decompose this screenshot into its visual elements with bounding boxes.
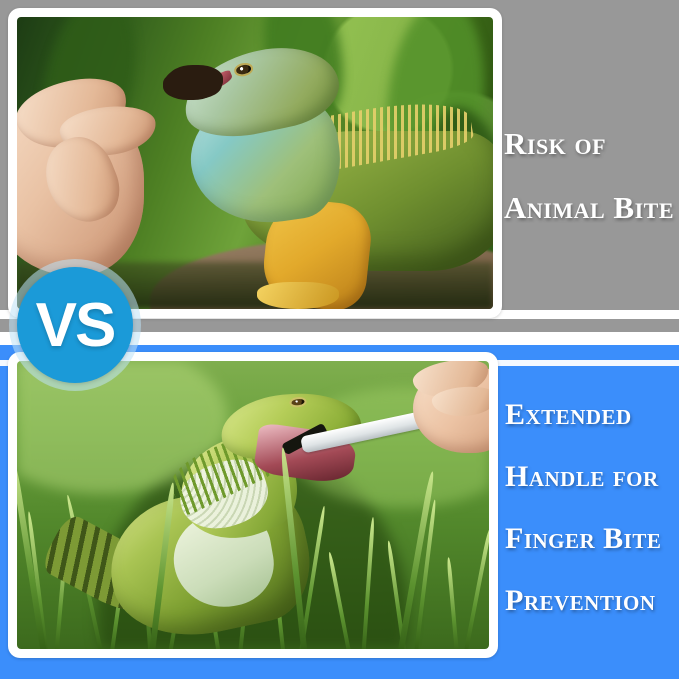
- risk-headline: Risk of Animal Bite: [504, 112, 674, 240]
- lizard-subject: [93, 384, 386, 632]
- solution-headline: Extended Handle for Finger Bite Preventi…: [505, 384, 661, 632]
- solution-headline-line-2: Handle for: [505, 446, 661, 508]
- solution-headline-line-4: Prevention: [505, 570, 661, 632]
- solution-headline-line-3: Finger Bite: [505, 508, 661, 570]
- versus-badge-label: VS: [9, 259, 141, 391]
- iguana-claw: [257, 282, 339, 309]
- human-hand: [17, 64, 188, 280]
- solution-headline-line-1: Extended: [505, 384, 661, 446]
- insect-feeder-item: [165, 67, 222, 99]
- risk-headline-line-1: Risk of: [504, 112, 674, 176]
- solution-photo: [17, 361, 489, 649]
- risk-headline-line-2: Animal Bite: [504, 176, 674, 240]
- lizard-eye: [292, 398, 305, 406]
- iguana-eye: [235, 64, 252, 76]
- solution-photo-card: [8, 352, 498, 658]
- comparison-infographic: VS Risk of Animal Bite Extended Handle f…: [0, 0, 679, 679]
- versus-badge: VS: [9, 259, 141, 391]
